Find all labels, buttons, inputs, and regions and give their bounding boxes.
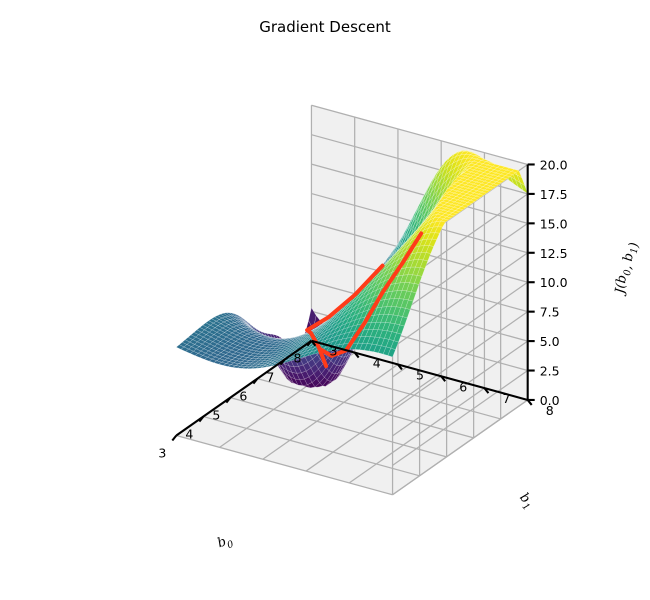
axis-tick-label: 4 (373, 356, 381, 371)
xaxis-title: b0 (215, 532, 235, 554)
axis-tick-label: 8 (293, 351, 301, 366)
axis-tick-label: 3 (329, 344, 337, 359)
axis-tick-label: 7.5 (540, 305, 560, 320)
axis-tick-label: 6 (459, 379, 467, 394)
figure-canvas: Gradient Descent 3456783456780.02.55.07.… (0, 0, 650, 600)
axis-tick-label: 6 (239, 389, 247, 404)
axis-tick-label: 0.0 (540, 393, 560, 408)
axis-tick-label: 7 (502, 391, 510, 406)
svg-text:b1: b1 (514, 490, 537, 513)
axis-tick-label: 4 (185, 427, 193, 442)
svg-text:b0: b0 (215, 532, 235, 554)
axis-tick-label: 2.5 (540, 364, 560, 379)
zaxis-title: J(b0, b1) (613, 241, 643, 299)
surface-plot-3d: 3456783456780.02.55.07.510.012.515.017.5… (0, 0, 650, 600)
axis-tick-label: 5.0 (540, 334, 560, 349)
axis-tick-label: 3 (158, 446, 166, 461)
axis-tick-label: 7 (266, 370, 274, 385)
axis-tick-label: 12.5 (540, 246, 568, 261)
axis-tick-label: 20.0 (540, 157, 568, 172)
axis-tick-label: 10.0 (540, 275, 568, 290)
svg-text:J(b0, b1): J(b0, b1) (613, 241, 643, 299)
axis-tick-label: 5 (416, 367, 424, 382)
axis-tick-label: 17.5 (540, 187, 568, 202)
axis-tick-label: 15.0 (540, 216, 568, 231)
axis-tick-label: 5 (212, 408, 220, 423)
yaxis-title: b1 (514, 490, 537, 513)
